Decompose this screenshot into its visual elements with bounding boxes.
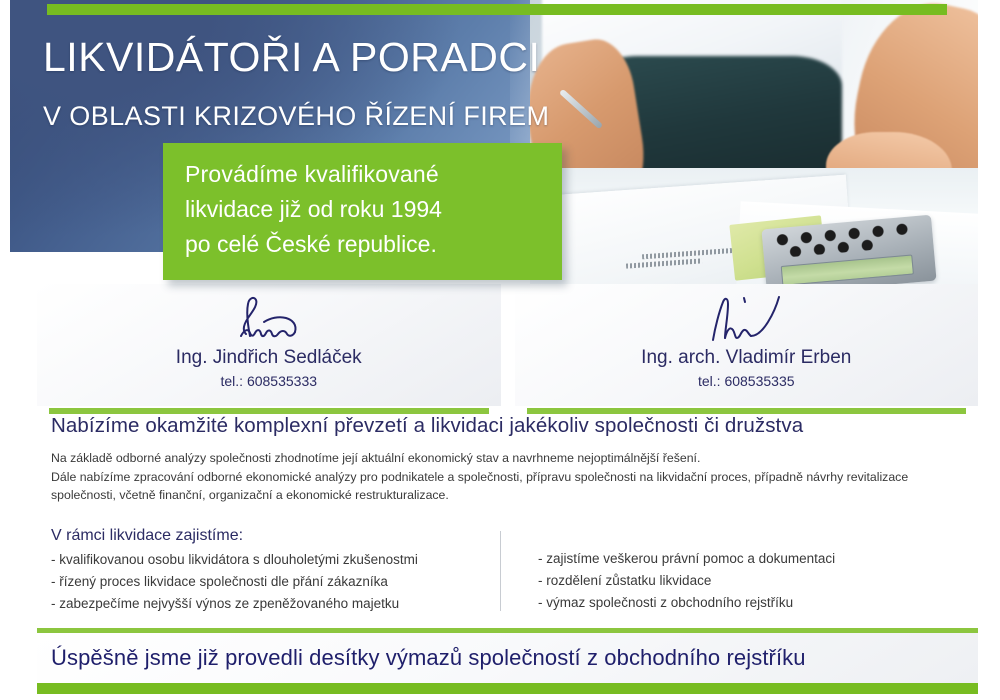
- offer-paragraph: Na základě odborné analýzy společnosti z…: [51, 449, 970, 468]
- service-item: - zabezpečíme nejvyšší výnos ze zpeněžov…: [51, 593, 500, 615]
- offer-body: Na základě odborné analýzy společnosti z…: [37, 449, 978, 505]
- photo-calculator-screen: [781, 254, 914, 285]
- signature-phone[interactable]: tel.: 608535333: [37, 373, 501, 389]
- service-item: - řízený proces likvidace společnosti dl…: [51, 571, 500, 593]
- services-column-divider: [500, 531, 501, 611]
- poster-page: LIKVIDÁTOŘI A PORADCI V OBLASTI KRIZOVÉH…: [0, 0, 1000, 700]
- signature-icon-wrap: [37, 290, 501, 346]
- hero-photo: [530, 0, 978, 290]
- photo-calculator-keys: [772, 222, 924, 259]
- signature-card: Ing. arch. Vladimír Erben tel.: 60853533…: [515, 284, 979, 406]
- callout-line-2: likvidace již od roku 1994: [185, 192, 540, 227]
- bottom-green-rule-bottom: [37, 683, 978, 694]
- signature-name: Ing. arch. Vladimír Erben: [515, 347, 979, 369]
- service-item: - kvalifikovanou osobu likvidátora s dlo…: [51, 549, 500, 571]
- offer-paragraph: Dále nabízíme zpracování odborné ekonomi…: [51, 468, 970, 505]
- signature-row: Ing. Jindřich Sedláček tel.: 608535333 I…: [37, 284, 978, 406]
- bottom-banner-text: Úspěšně jsme již provedli desítky výmazů…: [51, 645, 806, 671]
- page-subtitle: V OBLASTI KRIZOVÉHO ŘÍZENÍ FIREM: [43, 101, 549, 132]
- bottom-banner-section: Úspěšně jsme již provedli desítky výmazů…: [37, 628, 978, 694]
- offer-heading: Nabízíme okamžité komplexní převzetí a l…: [37, 414, 978, 438]
- services-title: V rámci likvidace zajistíme:: [51, 527, 500, 545]
- signature-phone[interactable]: tel.: 608535335: [515, 373, 979, 389]
- services-left-column: V rámci likvidace zajistíme: - kvalifiko…: [37, 527, 500, 615]
- service-item: - výmaz společnosti z obchodního rejstří…: [538, 592, 978, 614]
- callout-line-1: Provádíme kvalifikované: [185, 157, 540, 192]
- bottom-banner: Úspěšně jsme již provedli desítky výmazů…: [37, 633, 978, 683]
- top-green-rule: [47, 4, 947, 15]
- signature-icon-wrap: [515, 290, 979, 346]
- service-item: - zajistíme veškerou právní pomoc a doku…: [538, 548, 978, 570]
- handwritten-signature-icon: [194, 292, 344, 346]
- signature-card: Ing. Jindřich Sedláček tel.: 608535333: [37, 284, 501, 406]
- service-item: - rozdělení zůstatku likvidace: [538, 570, 978, 592]
- signature-name: Ing. Jindřich Sedláček: [37, 347, 501, 369]
- services-right-column: - zajistíme veškerou právní pomoc a doku…: [500, 527, 978, 615]
- green-callout-box: Provádíme kvalifikované likvidace již od…: [163, 143, 562, 280]
- handwritten-signature-icon: [671, 292, 821, 346]
- main-content: Nabízíme okamžité komplexní převzetí a l…: [37, 414, 978, 615]
- services-section: V rámci likvidace zajistíme: - kvalifiko…: [37, 527, 978, 615]
- callout-line-3: po celé České republice.: [185, 227, 540, 262]
- page-title: LIKVIDÁTOŘI A PORADCI: [43, 34, 540, 81]
